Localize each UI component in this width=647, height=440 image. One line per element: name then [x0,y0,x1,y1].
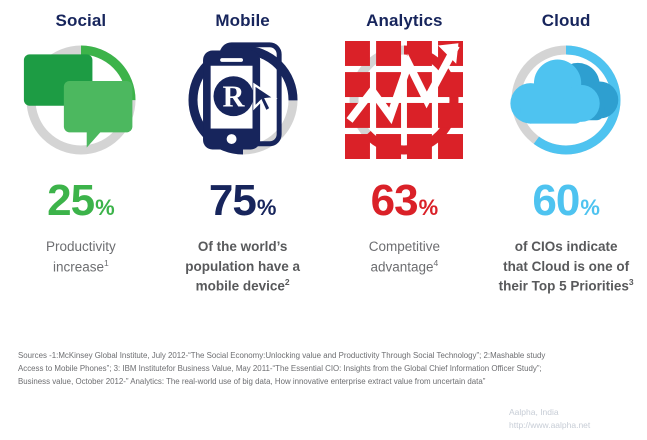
stat-number-analytics: 63 [371,176,418,225]
donut-chart-social [22,41,140,159]
caption-footnote: 4 [434,258,439,268]
caption-footnote: 1 [104,258,109,268]
column-title-analytics: Analytics [366,12,443,29]
footer-url[interactable]: http://www.aalpha.net [509,419,629,432]
speech-bubbles-icon [22,41,140,159]
stat-caption-cloud: of CIOs indicate that Cloud is one of th… [499,237,634,296]
sources-line-2: Access to Mobile Phones”; 3: IBM Institu… [18,363,638,376]
caption-line: their Top 5 Priorities [499,279,629,294]
stat-caption-social: Productivity increase1 [46,237,116,277]
stat-column-social: Social 25% Productivity [0,6,162,296]
svg-text:R: R [222,80,245,114]
stat-number-mobile: 75 [209,176,256,225]
stat-value-social: 25% [47,179,115,223]
donut-chart-cloud [507,41,625,159]
stat-percent-sign-cloud: % [580,195,600,220]
stat-value-mobile: 75% [209,179,277,223]
smartphone-icon: R [184,41,302,159]
caption-line: increase [53,259,104,274]
stat-column-mobile: Mobile R [162,6,324,296]
stat-value-cloud: 60% [532,179,600,223]
stat-columns: Social 25% Productivity [0,0,647,296]
stat-number-cloud: 60 [532,176,579,225]
column-title-social: Social [56,12,107,29]
caption-line: Productivity [46,239,116,254]
analytics-grid-icon [345,41,463,159]
caption-line: of CIOs indicate [515,239,618,254]
caption-line: mobile device [196,279,285,294]
caption-line: that Cloud is one of [503,259,629,274]
stat-number-social: 25 [47,176,94,225]
stat-value-analytics: 63% [371,179,439,223]
donut-chart-analytics [345,41,463,159]
sources-line-1: Sources -1:McKinsey Global Institute, Ju… [18,350,638,363]
caption-line: Of the world’s [198,239,288,254]
column-title-cloud: Cloud [542,12,591,29]
donut-chart-mobile: R [184,41,302,159]
stat-caption-analytics: Competitive advantage4 [369,237,440,277]
stat-percent-sign-social: % [95,195,115,220]
stat-column-analytics: Analytics [324,6,486,296]
stat-column-cloud: Cloud [485,6,647,296]
footer-company: Aalpha, India [509,406,629,419]
sources-line-3: Business value, October 2012-” Analytics… [18,376,638,389]
cloud-icon [507,41,625,159]
caption-line: population have a [185,259,300,274]
caption-line: Competitive [369,239,440,254]
caption-footnote: 3 [629,277,634,287]
stat-caption-mobile: Of the world’s population have a mobile … [185,237,300,296]
column-title-mobile: Mobile [215,12,269,29]
stat-percent-sign-analytics: % [419,195,439,220]
infographic-root: Social 25% Productivity [0,0,647,440]
caption-footnote: 2 [285,277,290,287]
sources-block: Sources -1:McKinsey Global Institute, Ju… [18,350,638,388]
stat-percent-sign-mobile: % [257,195,277,220]
footer-credit: Aalpha, India http://www.aalpha.net [509,406,629,432]
caption-line: advantage [370,259,433,274]
